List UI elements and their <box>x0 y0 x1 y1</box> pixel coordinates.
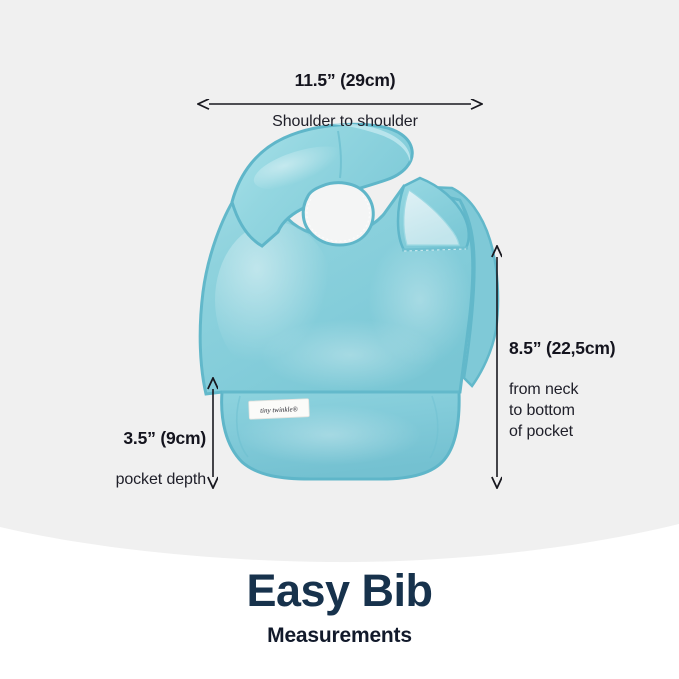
pocket-depth-description: pocket depth <box>78 469 206 490</box>
pocket-depth-value: 3.5” (9cm) <box>78 428 206 449</box>
shoulder-width-value: 11.5” (29cm) <box>200 70 490 91</box>
neck-to-pocket-value: 8.5” (22,5cm) <box>509 338 669 359</box>
annotation-neck-to-pocket: 8.5” (22,5cm) from neck to bottom of poc… <box>509 320 669 460</box>
caption-block: Easy Bib Measurements <box>0 567 679 648</box>
shoulder-width-description: Shoulder to shoulder <box>200 111 490 132</box>
product-title: Easy Bib <box>0 567 679 614</box>
annotation-pocket-depth: 3.5” (9cm) pocket depth <box>78 410 206 508</box>
product-measurement-diagram: tiny twinkle® 11.5” (29cm) Shoulder to s… <box>0 0 679 679</box>
caption-subtitle: Measurements <box>0 624 679 648</box>
annotation-shoulder-width: 11.5” (29cm) Shoulder to shoulder <box>200 52 490 150</box>
neck-to-pocket-description: from neck to bottom of pocket <box>509 379 669 442</box>
